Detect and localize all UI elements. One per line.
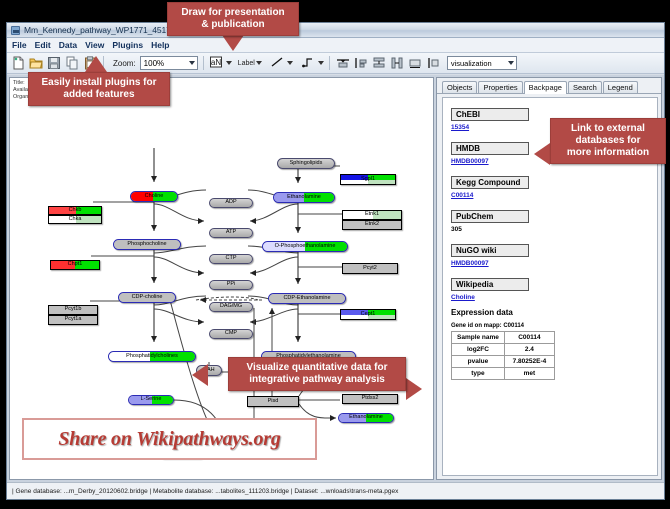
text-label-icon: aN — [209, 55, 225, 71]
callout-visualize-arrow-left — [406, 378, 422, 400]
group-icon[interactable] — [407, 55, 423, 71]
table-row: log2FC 2.4 — [452, 344, 555, 356]
callout-link-line3: more information — [557, 147, 659, 159]
callout-plugins: Easily install plugins for added feature… — [28, 72, 170, 106]
chevron-down-icon — [287, 61, 293, 65]
pathway-gene-etnk2[interactable]: Etnk2 — [342, 220, 402, 230]
node-label: Pcyt1a — [65, 317, 82, 323]
line-tool[interactable] — [270, 55, 293, 71]
pathway-node-l-serine-left[interactable]: L-Serine — [128, 395, 174, 405]
pathway-node-adp[interactable]: ADP — [209, 198, 253, 208]
zoom-value: 100% — [144, 59, 164, 68]
node-label: ATP — [226, 230, 236, 236]
chevron-down-icon — [256, 61, 262, 65]
expr-value: 2.4 — [504, 344, 554, 356]
connector-icon — [301, 55, 317, 71]
chevron-down-icon — [189, 61, 195, 65]
node-label: Phosphocholine — [127, 242, 166, 248]
menu-file[interactable]: File — [12, 40, 32, 50]
expr-value: 7.80252E-4 — [504, 356, 554, 368]
menu-plugins[interactable]: Plugins — [112, 40, 148, 50]
visualization-combobox[interactable]: visualization — [447, 56, 517, 70]
node-label: O-Phosphoethanolamine — [275, 244, 336, 250]
pathway-gene-pcyt1b[interactable]: Pcyt1b — [48, 305, 98, 315]
pathway-gene-chka[interactable]: Chka — [48, 215, 102, 224]
gene-id-on-mapp: Gene id on mapp: C00114 — [451, 323, 657, 329]
svg-text:aN: aN — [211, 58, 221, 67]
expr-value: C00114 — [504, 332, 554, 344]
save-icon[interactable] — [46, 55, 62, 71]
tab-search[interactable]: Search — [568, 81, 602, 93]
callout-plugins-line2: added features — [35, 89, 163, 101]
callout-visualize-line1: Visualize quantitative data for — [235, 362, 399, 374]
visualization-value: visualization — [451, 59, 492, 68]
line-icon — [270, 55, 286, 71]
tab-objects[interactable]: Objects — [442, 81, 477, 93]
backpage-link-wikipedia[interactable]: Choline — [451, 294, 657, 301]
share-banner-text: Share on Wikipathways.org — [58, 428, 280, 451]
pathway-gene-chkb[interactable]: Chkb — [48, 206, 102, 215]
connector-tool[interactable] — [301, 55, 324, 71]
pathway-node-cdp-choline[interactable]: CDP-choline — [118, 292, 176, 303]
share-banner: Share on Wikipathways.org — [22, 418, 317, 460]
toolbar-separator — [329, 56, 330, 70]
tab-properties[interactable]: Properties — [478, 81, 522, 93]
node-label: Ethanolamine — [287, 195, 321, 201]
node-label: Ethanolamine — [349, 415, 383, 421]
pathway-gene-pisd[interactable]: Pisd — [247, 396, 299, 407]
expr-key: type — [452, 368, 505, 380]
pathway-gene-cept1[interactable]: Cept1 — [340, 309, 396, 320]
node-label: L-Serine — [141, 397, 162, 403]
menu-data[interactable]: Data — [59, 40, 82, 50]
label-tool[interactable]: Label — [238, 60, 262, 67]
pathway-gene-sgpl1[interactable]: Sgpl1 — [340, 174, 396, 185]
callout-visualize-arrow-right — [192, 364, 208, 386]
new-file-icon[interactable] — [10, 55, 26, 71]
node-label: ADP — [225, 200, 236, 206]
pathway-node-o-phosphoethanolamine[interactable]: O-Phosphoethanolamine — [262, 241, 348, 252]
align-top-icon[interactable] — [335, 55, 351, 71]
node-label: CMP — [225, 331, 237, 337]
backpage-link-kegg[interactable]: C00114 — [451, 192, 657, 199]
node-label: Ptdss2 — [362, 396, 379, 402]
pathway-node-ethanolamine-bottom[interactable]: Ethanolamine — [338, 413, 394, 423]
menu-view[interactable]: View — [85, 40, 109, 50]
distribute-vertical-icon[interactable] — [371, 55, 387, 71]
pathway-node-phosphocholine[interactable]: Phosphocholine — [113, 239, 181, 250]
pathway-node-sphingolipids[interactable]: Sphingolipids — [277, 158, 335, 169]
pathway-node-atp[interactable]: ATP — [209, 228, 253, 238]
pathway-node-cmp[interactable]: CMP — [209, 329, 253, 339]
chevron-down-icon — [508, 61, 514, 65]
node-label: CDP-Ethanolamine — [283, 296, 330, 302]
node-label: Etnk1 — [365, 212, 379, 218]
callout-link-line2: databases for — [557, 135, 659, 147]
callout-draw-line2: & publication — [174, 19, 292, 31]
backpage-value-pubchem: 305 — [451, 226, 657, 233]
pathway-node-ppi[interactable]: PPi — [209, 280, 253, 290]
expr-value: met — [504, 368, 554, 380]
node-label: Chka — [69, 217, 82, 223]
node-label: CDP-choline — [132, 295, 163, 301]
node-label: PPi — [227, 282, 236, 288]
table-row: pvalue 7.80252E-4 — [452, 356, 555, 368]
pathway-node-cdp-ethanolamine[interactable]: CDP-Ethanolamine — [268, 293, 346, 304]
table-row: type met — [452, 368, 555, 380]
backpage-header-pubchem: PubChem — [451, 210, 529, 223]
app-icon — [11, 26, 20, 35]
text-label-tool[interactable]: aN — [209, 55, 232, 71]
callout-plugins-line1: Easily install plugins for — [35, 77, 163, 89]
expression-data-table: Sample name C00114 log2FC 2.4 pvalue 7.8… — [451, 331, 555, 380]
callout-link-line1: Link to external — [557, 123, 659, 135]
callout-visualize: Visualize quantitative data for integrat… — [228, 357, 406, 391]
pathway-node-phosphatidylcholines[interactable]: Phosphatidylcholines — [108, 351, 196, 362]
callout-draw-arrow — [222, 35, 244, 51]
backpage-link-nugo[interactable]: HMDB00097 — [451, 260, 657, 267]
expression-data-title: Expression data — [451, 308, 657, 317]
callout-draw: Draw for presentation & publication — [167, 2, 299, 36]
pathway-gene-pcyt2[interactable]: Pcyt2 — [342, 263, 398, 274]
node-label: Etnk2 — [365, 222, 379, 228]
titlebar: Mm_Kennedy_pathway_WP1771_45176.gpml — [7, 23, 664, 38]
statusbar-text: | Gene database: ...m_Derby_20120602.bri… — [12, 488, 398, 495]
node-label: Pisd — [268, 399, 279, 405]
node-label: Sgpl1 — [361, 177, 375, 183]
callout-plugins-arrow — [85, 56, 107, 72]
backpage-header-chebi: ChEBI — [451, 108, 529, 121]
callout-link-databases: Link to external databases for more info… — [550, 118, 666, 164]
node-label: Pcyt2 — [363, 266, 377, 272]
chevron-down-icon — [226, 61, 232, 65]
node-label: Sphingolipids — [290, 161, 323, 167]
node-label: Pcyt1b — [65, 307, 82, 313]
backpage-header-nugo: NuGO wiki — [451, 244, 529, 257]
node-label: Cept1 — [361, 312, 376, 318]
expr-key: pvalue — [452, 356, 505, 368]
pathway-node-ethanolamine-top[interactable]: Ethanolamine — [273, 192, 335, 203]
expr-key: log2FC — [452, 344, 505, 356]
pathway-gene-etnk1[interactable]: Etnk1 — [342, 210, 402, 220]
menu-help[interactable]: Help — [151, 40, 174, 50]
open-folder-icon[interactable] — [28, 55, 44, 71]
backpage-header-wikipedia: Wikipedia — [451, 278, 529, 291]
backpage-header-kegg: Kegg Compound — [451, 176, 529, 189]
screenshot-root: Mm_Kennedy_pathway_WP1771_45176.gpml Fil… — [0, 0, 670, 509]
side-panel-tabs: Objects Properties Backpage Search Legen… — [437, 78, 661, 94]
copy-icon[interactable] — [64, 55, 80, 71]
zoom-label: Zoom: — [113, 59, 136, 68]
distribute-horizontal-icon[interactable] — [389, 55, 405, 71]
expr-key: Sample name — [452, 332, 505, 344]
menu-edit[interactable]: Edit — [35, 40, 56, 50]
node-label: DAG/MG — [220, 304, 242, 310]
statusbar: | Gene database: ...m_Derby_20120602.bri… — [7, 482, 664, 499]
chevron-down-icon — [318, 61, 324, 65]
menubar: File Edit Data View Plugins Help — [7, 38, 664, 53]
pathway-gene-pcyt1a[interactable]: Pcyt1a — [48, 315, 98, 325]
align-left-icon[interactable] — [353, 55, 369, 71]
tab-legend[interactable]: Legend — [603, 81, 638, 93]
callout-draw-line1: Draw for presentation — [174, 7, 292, 19]
label-tool-text: Label — [238, 60, 255, 67]
pathway-node-dag-mg[interactable]: DAG/MG — [209, 302, 253, 312]
zoom-combobox[interactable]: 100% — [140, 56, 198, 70]
pathway-node-ctp[interactable]: CTP — [209, 254, 253, 264]
toolbar-separator — [203, 56, 204, 70]
callout-link-arrow — [534, 143, 550, 165]
node-label: Choline — [145, 194, 164, 200]
node-label: Chpt1 — [68, 262, 83, 268]
node-label: Phosphatidylcholines — [126, 354, 178, 360]
pathway-gene-chpt1[interactable]: Chpt1 — [50, 260, 100, 270]
pathway-gene-ptdss2[interactable]: Ptdss2 — [342, 394, 398, 404]
pathway-node-choline[interactable]: Choline — [130, 191, 178, 202]
stack-icon[interactable] — [425, 55, 441, 71]
node-label: CTP — [226, 256, 237, 262]
table-row: Sample name C00114 — [452, 332, 555, 344]
backpage-header-hmdb: HMDB — [451, 142, 529, 155]
tab-backpage[interactable]: Backpage — [524, 81, 567, 94]
node-label: Chkb — [69, 208, 82, 214]
callout-visualize-line2: integrative pathway analysis — [235, 374, 399, 386]
